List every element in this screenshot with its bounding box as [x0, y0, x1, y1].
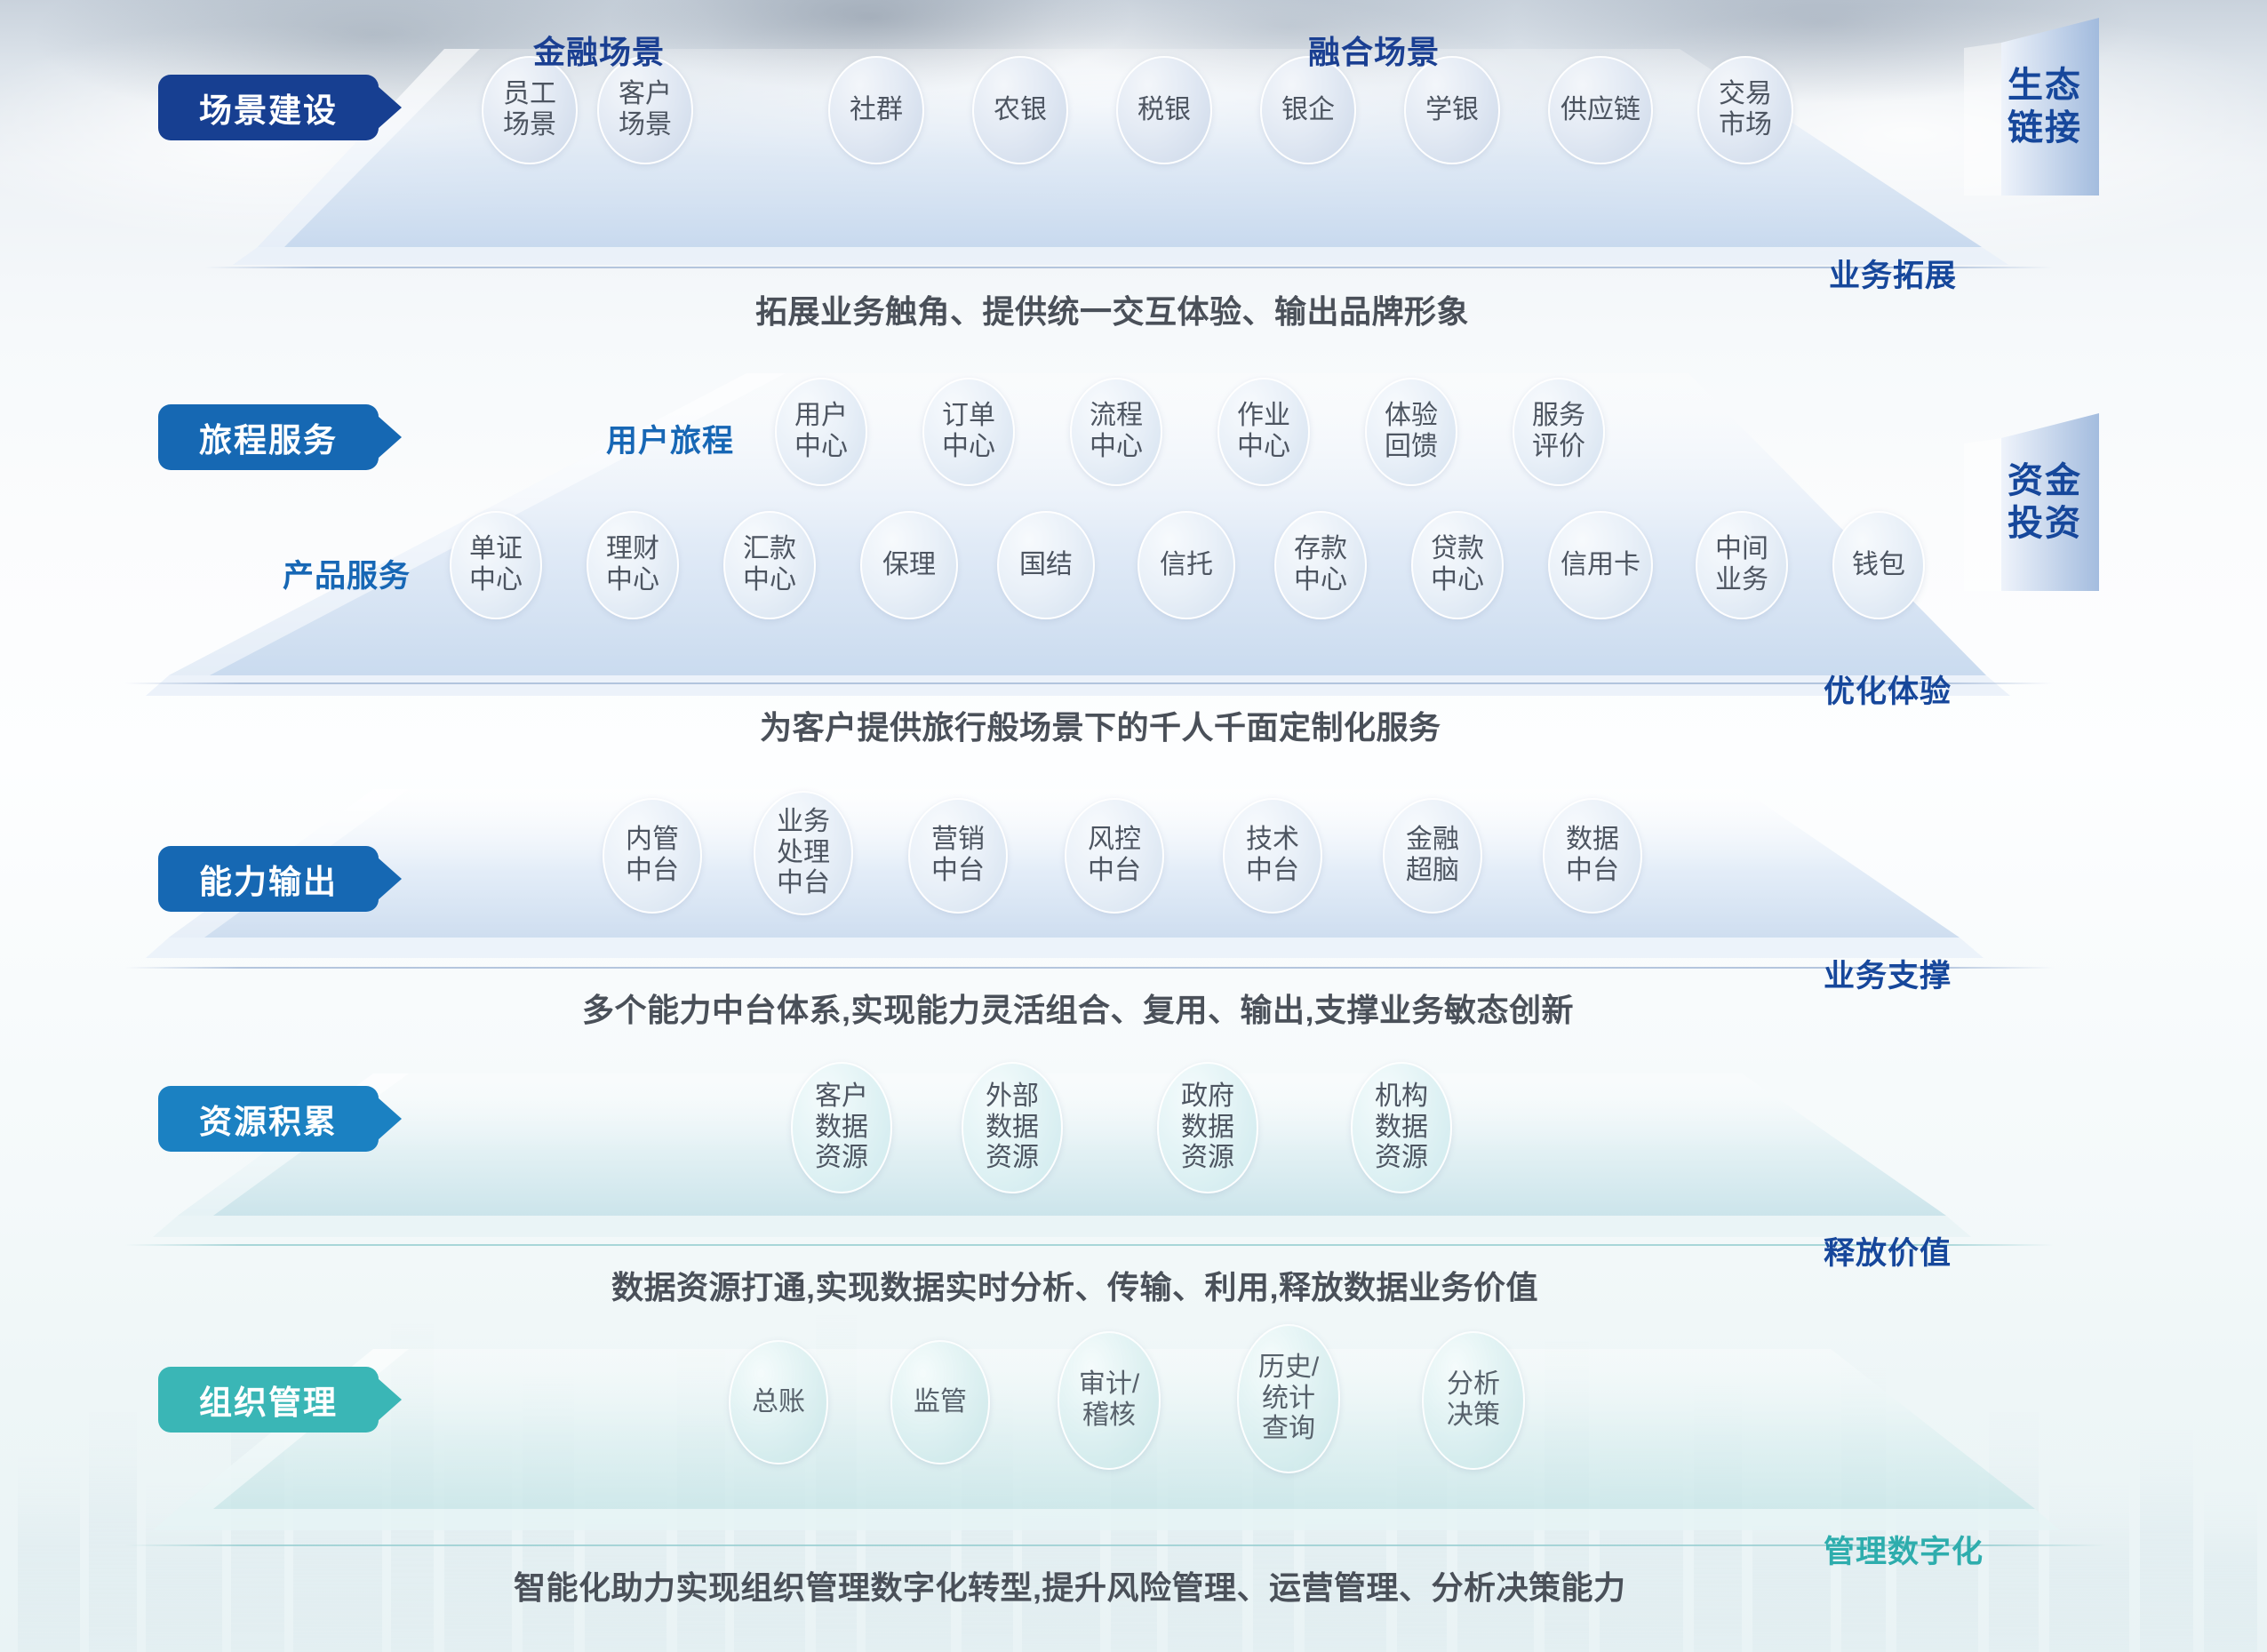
layer-tag-label: 组织管理 — [199, 1376, 338, 1424]
node-audit-inspection[interactable]: 审计/ 稽核 — [1058, 1331, 1161, 1470]
layer-tag-organization-management[interactable]: 组织管理 — [158, 1367, 379, 1433]
banner-line-2: 投资 — [2008, 502, 2082, 545]
node-deposit-center[interactable]: 存款 中心 — [1274, 511, 1367, 619]
banner-line-1: 资金 — [2008, 459, 2082, 502]
rule-label-optimize-experience: 优化体验 — [1824, 666, 1952, 712]
banner-ecosystem-link: 生态 链接 — [1964, 9, 2195, 204]
layer-tag-label: 旅程服务 — [199, 413, 338, 461]
layer-tag-journey-service[interactable]: 旅程服务 — [158, 404, 379, 470]
node-financial-brain[interactable]: 金融 超脑 — [1383, 798, 1482, 914]
rule-label-release-value: 释放价值 — [1824, 1228, 1952, 1273]
node-trust[interactable]: 信托 — [1137, 511, 1235, 619]
node-data-platform[interactable]: 数据 中台 — [1543, 798, 1642, 914]
divider-rule-5 — [124, 1544, 2106, 1546]
node-operation-center[interactable]: 作业 中心 — [1217, 378, 1310, 486]
node-document-center[interactable]: 单证 中心 — [450, 511, 542, 619]
node-intl-settlement[interactable]: 国结 — [997, 511, 1095, 619]
banner-line-2: 链接 — [2008, 107, 2082, 149]
divider-rule-3 — [124, 967, 2055, 969]
group-title-fusion-scene: 融合场景 — [1308, 27, 1440, 73]
node-government-data-resource[interactable]: 政府 数据 资源 — [1157, 1062, 1258, 1193]
node-remittance-center[interactable]: 汇款 中心 — [723, 511, 816, 619]
node-internal-mgmt-platform[interactable]: 内管 中台 — [603, 798, 702, 914]
banner-capital-investment: 资金 投资 — [1964, 404, 2195, 600]
layer-tag-label: 能力输出 — [199, 855, 338, 903]
node-history-statistics-query[interactable]: 历史/ 统计 查询 — [1237, 1324, 1340, 1473]
layer-tag-scene-building[interactable]: 场景建设 — [158, 75, 379, 140]
divider-rule-4 — [124, 1244, 2055, 1246]
row-title-user-journey: 用户旅程 — [606, 416, 734, 461]
node-process-center[interactable]: 流程 中心 — [1070, 378, 1162, 486]
layer-tag-capability-output[interactable]: 能力输出 — [158, 846, 379, 912]
node-supply-chain[interactable]: 供应链 — [1548, 56, 1653, 164]
caption-layer-4: 数据资源打通‚实现数据实时分析、传输、利用‚释放数据业务价值 — [611, 1262, 1538, 1308]
rule-label-business-support: 业务支撑 — [1824, 951, 1952, 996]
node-wallet[interactable]: 钱包 — [1832, 511, 1925, 619]
layer-tag-resource-accumulation[interactable]: 资源积累 — [158, 1086, 379, 1152]
node-business-processing-platform[interactable]: 业务 处理 中台 — [754, 791, 853, 915]
node-external-data-resource[interactable]: 外部 数据 资源 — [962, 1062, 1063, 1193]
node-user-center[interactable]: 用户 中心 — [775, 378, 867, 486]
caption-layer-3: 多个能力中台体系‚实现能力灵活组合、复用、输出‚支撑业务敏态创新 — [582, 985, 1574, 1031]
layer-tag-label: 资源积累 — [199, 1095, 338, 1143]
rule-label-business-expansion: 业务拓展 — [1829, 251, 1957, 296]
node-service-rating[interactable]: 服务 评价 — [1513, 378, 1605, 486]
caption-layer-5: 智能化助力实现组织管理数字化转型‚提升风险管理、运营管理、分析决策能力 — [514, 1562, 1626, 1608]
caption-layer-2: 为客户提供旅行般场景下的千人千面定制化服务 — [760, 702, 1441, 748]
banner-capital-investment-text: 资金 投资 — [1991, 404, 2099, 600]
row-title-product-service: 产品服务 — [283, 551, 411, 596]
group-title-financial-scene: 金融场景 — [533, 27, 665, 73]
node-factoring[interactable]: 保理 — [860, 511, 958, 619]
banner-line-1: 生态 — [2008, 64, 2082, 107]
node-technology-platform[interactable]: 技术 中台 — [1223, 798, 1322, 914]
divider-rule-1 — [204, 267, 2053, 268]
node-credit-card[interactable]: 信用卡 — [1548, 511, 1653, 619]
divider-rule-2 — [124, 682, 2053, 684]
layer-tag-label: 场景建设 — [199, 84, 338, 132]
node-wealth-center[interactable]: 理财 中心 — [587, 511, 679, 619]
node-loan-center[interactable]: 贷款 中心 — [1411, 511, 1504, 619]
caption-layer-1: 拓展业务触角、提供统一交互体验、输出品牌形象 — [755, 286, 1469, 332]
rule-label-management-digitalization: 管理数字化 — [1824, 1527, 1984, 1572]
node-institution-data-resource[interactable]: 机构 数据 资源 — [1351, 1062, 1452, 1193]
node-marketing-platform[interactable]: 营销 中台 — [908, 798, 1008, 914]
node-tax-bank[interactable]: 税银 — [1116, 56, 1212, 164]
node-order-center[interactable]: 订单 中心 — [922, 378, 1015, 486]
node-analysis-decision[interactable]: 分析 决策 — [1422, 1331, 1525, 1470]
node-customer-data-resource[interactable]: 客户 数据 资源 — [791, 1062, 892, 1193]
banner-ecosystem-link-text: 生态 链接 — [1991, 9, 2099, 204]
node-intermediary-business[interactable]: 中间 业务 — [1696, 511, 1788, 619]
node-general-ledger[interactable]: 总账 — [729, 1340, 828, 1464]
node-experience-feedback[interactable]: 体验 回馈 — [1365, 378, 1457, 486]
node-agri-bank[interactable]: 农银 — [972, 56, 1068, 164]
node-community[interactable]: 社群 — [828, 56, 924, 164]
node-risk-control-platform[interactable]: 风控 中台 — [1065, 798, 1164, 914]
node-supervision[interactable]: 监管 — [890, 1340, 990, 1464]
node-trading-market[interactable]: 交易 市场 — [1697, 56, 1793, 164]
